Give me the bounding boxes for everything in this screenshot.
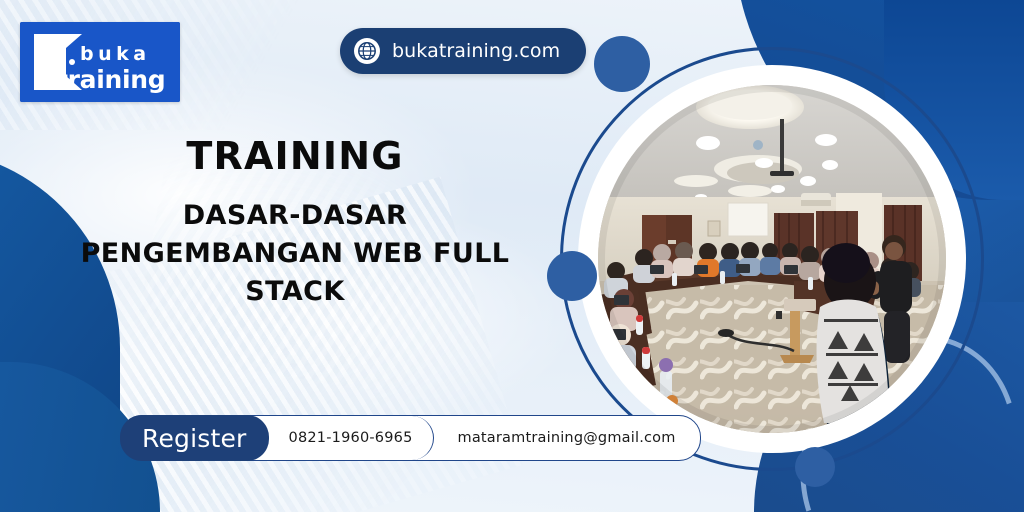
course-title: DASAR-DASAR PENGEMBANGAN WEB FULL STACK [60,197,530,312]
page-title: TRAINING [60,135,530,179]
website-pill[interactable]: bukatraining.com [340,28,586,74]
accent-dot-left-icon [547,251,597,301]
register-button[interactable]: Register [120,415,269,461]
svg-text:buka: buka [80,43,151,65]
svg-text:training: training [56,65,165,94]
photo-image [598,85,946,433]
accent-dot-bottom-icon [795,447,835,487]
globe-icon [354,38,380,64]
website-url: bukatraining.com [392,40,560,62]
contact-phone[interactable]: 0821-1960-6965 [269,416,434,460]
poster-canvas: buka training bukatraining.com TRAINING … [0,0,1024,512]
register-bar[interactable]: Register 0821-1960-6965 mataramtraining@… [120,415,701,461]
headline-block: TRAINING DASAR-DASAR PENGEMBANGAN WEB FU… [60,135,530,312]
contact-email[interactable]: mataramtraining@gmail.com [434,416,700,460]
buka-training-logo[interactable]: buka training [20,22,180,102]
training-room-photo [560,47,984,471]
